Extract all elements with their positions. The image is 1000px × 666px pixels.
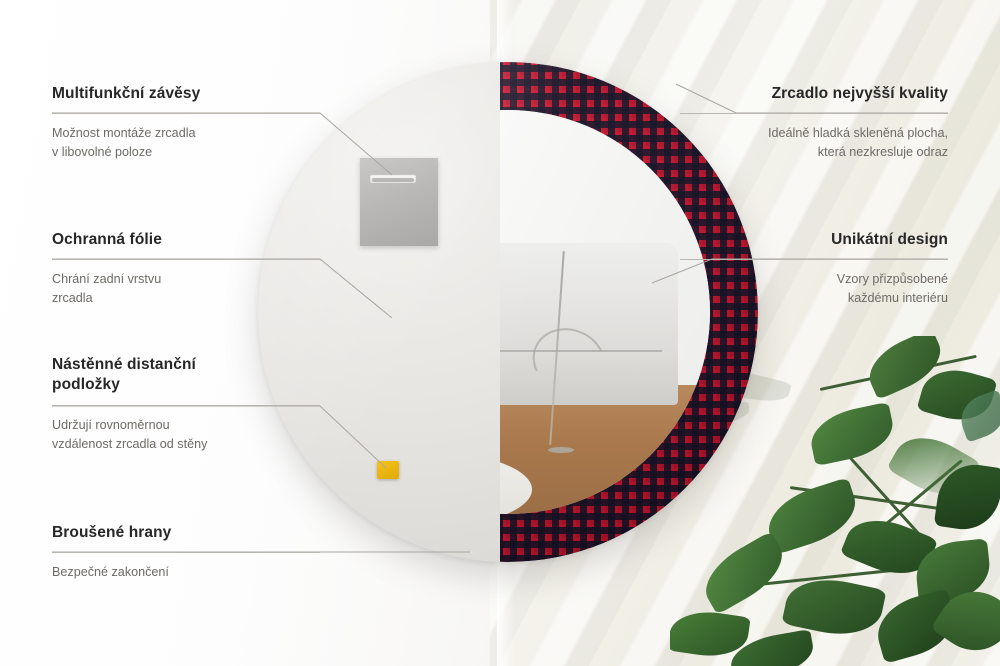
callout-divider [52,405,320,406]
callout-divider [680,259,948,260]
callout-description: Chrání zadní vrstvu zrcadla [52,270,320,307]
callout-title: Nástěnné distanční podložky [52,355,320,396]
callout-divider [52,113,320,114]
callout-description: Možnost montáže zrcadla v libovolné polo… [52,124,320,161]
callout-title: Multifunkční závěsy [52,84,320,104]
callout-description: Vzory přizpůsobené každému interiéru [680,270,948,307]
callout-multifunkcni-zavesy: Multifunkční závěsy Možnost montáže zrca… [52,84,320,162]
callout-divider [52,259,320,260]
callout-title: Ochranná fólie [52,230,320,250]
callout-description: Bezpečné zakončení [52,563,320,582]
callout-divider [680,113,948,114]
hanging-bracket [360,158,438,246]
callout-brousene-hrany: Broušené hrany Bezpečné zakončení [52,523,320,582]
callout-title: Unikátní design [680,230,948,250]
callout-title: Broušené hrany [52,523,320,543]
callout-nastenne-distancni-podlozky: Nástěnné distanční podložky Udržují rovn… [52,355,320,453]
bracket-slot-shadow [372,178,414,182]
callout-unikatni-design: Unikátní design Vzory přizpůsobené každé… [680,230,948,308]
wall-spacer-pad [377,461,399,479]
callout-zrcadlo-nejvyssi-kvality: Zrcadlo nejvyšší kvality Ideálně hladká … [680,84,948,162]
callout-divider [52,552,320,553]
callout-description: Udržují rovnoměrnou vzdálenost zrcadla o… [52,416,320,453]
callout-description: Ideálně hladká skleněná plocha, která ne… [680,124,948,161]
callout-ochranna-folie: Ochranná fólie Chrání zadní vrstvu zrcad… [52,230,320,308]
callout-title: Zrcadlo nejvyšší kvality [680,84,948,104]
infographic-canvas: Multifunkční závěsy Možnost montáže zrca… [0,0,1000,666]
